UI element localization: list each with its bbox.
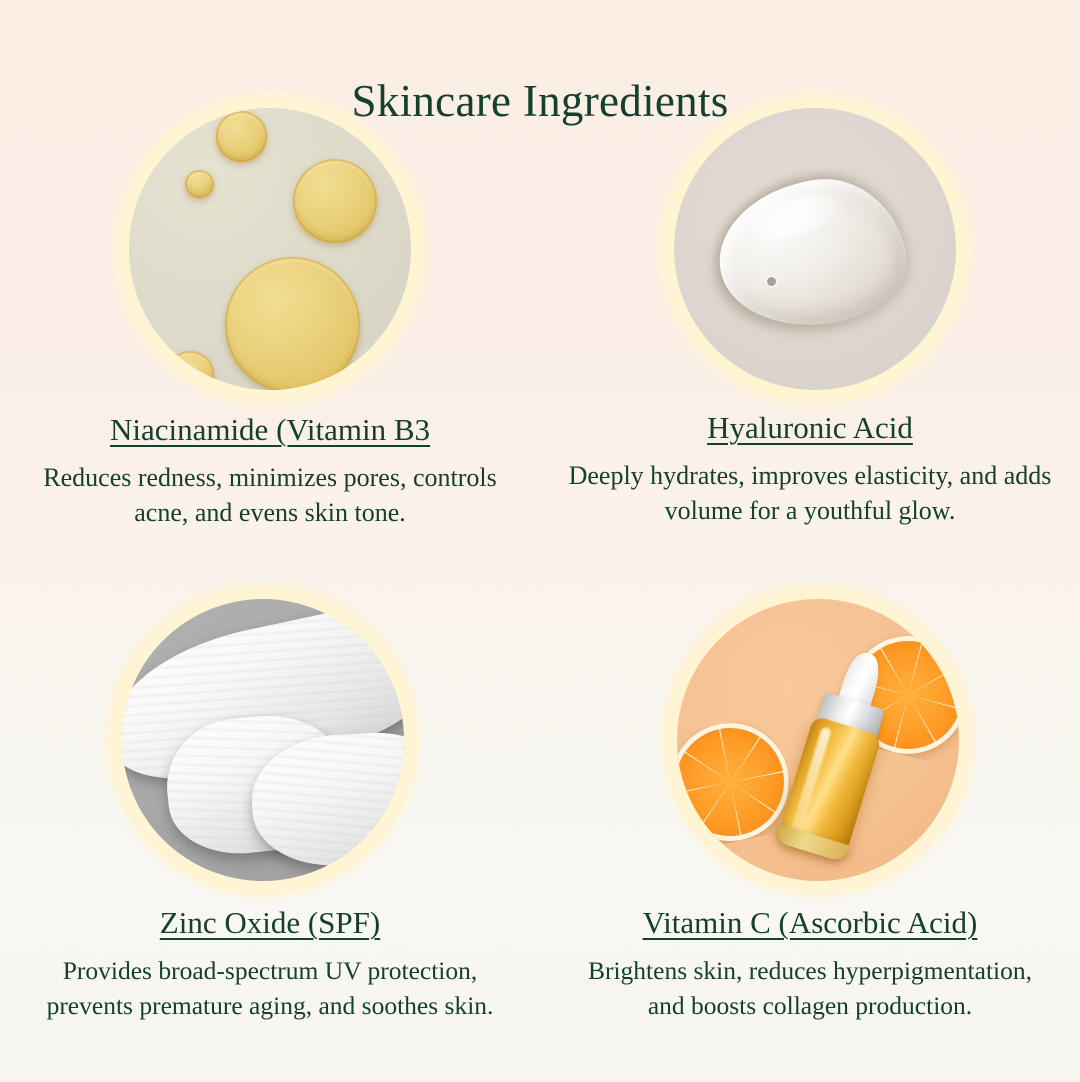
oil-droplet-icon (185, 170, 213, 198)
ingredient-name: Vitamin C (Ascorbic Acid) (568, 905, 1052, 941)
oil-droplet-icon (225, 257, 360, 390)
hyaluronic-acid-text: Hyaluronic Acid Deeply hydrates, improve… (540, 410, 1080, 528)
ingredient-card-hyaluronic-acid: Hyaluronic Acid Deeply hydrates, improve… (540, 108, 1080, 595)
zinc-oxide-text: Zinc Oxide (SPF) Provides broad-spectrum… (0, 905, 540, 1023)
niacinamide-text: Niacinamide (Vitamin B3 Reduces redness,… (0, 412, 540, 530)
ingredient-card-niacinamide: Niacinamide (Vitamin B3 Reduces redness,… (0, 108, 540, 595)
ingredient-description: Provides broad-spectrum UV protection, p… (28, 953, 512, 1023)
ingredient-name: Zinc Oxide (SPF) (28, 905, 512, 941)
ingredient-name: Niacinamide (Vitamin B3 (28, 412, 512, 448)
ingredient-name: Hyaluronic Acid (568, 410, 1052, 446)
oil-droplet-icon (293, 159, 378, 244)
zinc-oxide-image-halo (122, 599, 404, 881)
vitamin-c-scene (677, 599, 959, 881)
hyaluronic-acid-image-halo (674, 108, 956, 390)
ingredient-card-vitamin-c: Vitamin C (Ascorbic Acid) Brightens skin… (540, 595, 1080, 1082)
vitamin-c-image-halo (677, 599, 959, 881)
oil-droplet-icon (216, 111, 267, 162)
oil-droplets-photo (129, 108, 411, 390)
serum-bottle-with-orange-slices-photo (677, 599, 959, 881)
infographic-page: Skincare Ingredients Niacinamide (Vitami… (0, 0, 1080, 1080)
white-cream-swatch-photo (122, 599, 404, 881)
niacinamide-image-halo (129, 108, 411, 390)
ingredient-description: Brightens skin, reduces hyperpigmentatio… (568, 953, 1052, 1023)
serum-bottle-icon (777, 644, 904, 859)
oil-droplet-icon (166, 351, 214, 390)
ingredient-card-zinc-oxide: Zinc Oxide (SPF) Provides broad-spectrum… (0, 595, 540, 1082)
ingredient-description: Deeply hydrates, improves elasticity, an… (568, 458, 1052, 528)
clear-gel-blob-photo (674, 108, 956, 390)
vitamin-c-text: Vitamin C (Ascorbic Acid) Brightens skin… (540, 905, 1080, 1023)
ingredient-grid: Niacinamide (Vitamin B3 Reduces redness,… (0, 108, 1080, 1082)
ingredient-description: Reduces redness, minimizes pores, contro… (28, 460, 512, 530)
